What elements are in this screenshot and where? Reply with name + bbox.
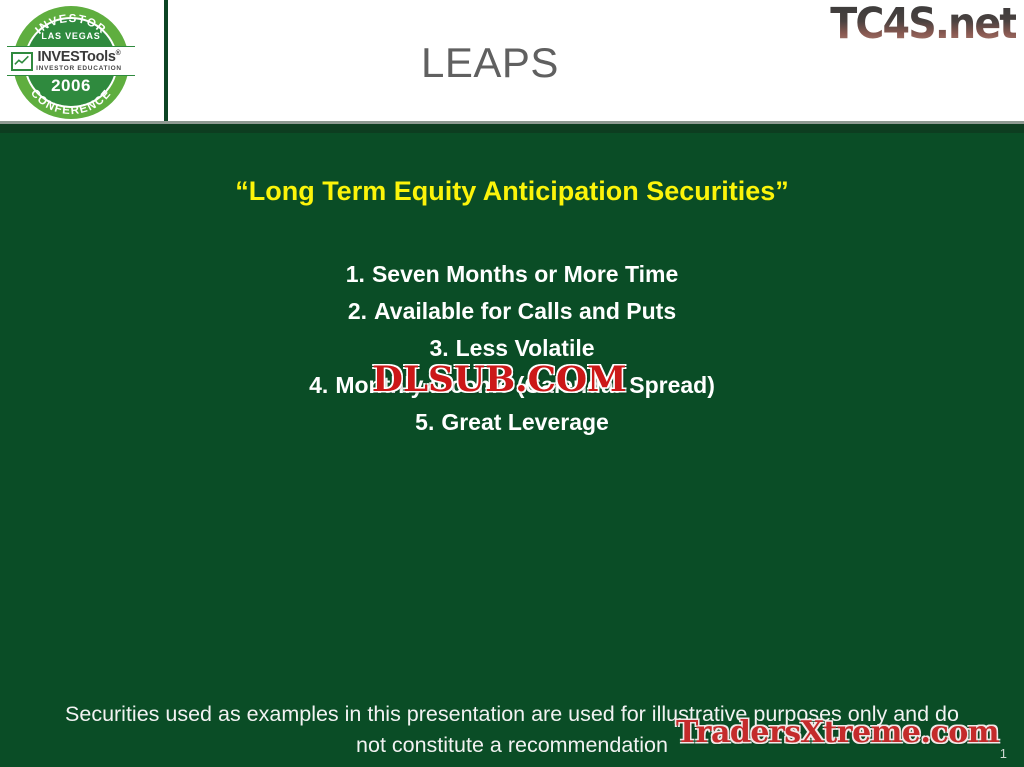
badge-tagline-label: INVESTOR EDUCATION [20, 66, 122, 73]
list-item: 2.Available for Calls and Puts [0, 293, 1024, 330]
list-item-label: Available for Calls and Puts [374, 298, 676, 324]
list-item-number: 4. [309, 372, 328, 398]
header-vertical-divider [164, 0, 168, 124]
badge-location-label: LAS VEGAS [13, 31, 129, 41]
list-item: 5.Great Leverage [0, 404, 1024, 441]
tc4s-brand-logo: TC4S.net [830, 3, 1016, 46]
presentation-slide: INVESTOR CONFERENCE LAS VEGAS INVESTools… [0, 0, 1024, 767]
leaps-feature-list: 1.Seven Months or More Time 2.Available … [0, 256, 1024, 441]
badge-year-label: 2006 [13, 76, 129, 96]
slide-header: INVESTOR CONFERENCE LAS VEGAS INVESTools… [0, 0, 1024, 122]
header-green-bar [0, 124, 1024, 133]
badge-brand-text: INVESTools [38, 49, 116, 65]
badge-brand-band: INVESTools® INVESTOR EDUCATION [7, 46, 135, 76]
investools-conference-badge: INVESTOR CONFERENCE LAS VEGAS INVESTools… [13, 6, 129, 119]
list-item-label: Seven Months or More Time [372, 261, 678, 287]
list-item-number: 5. [415, 409, 434, 435]
list-item-number: 3. [429, 335, 448, 361]
list-item-number: 1. [346, 261, 365, 287]
page-title: LEAPS [170, 42, 810, 84]
badge-registered-mark: ® [116, 50, 121, 57]
chart-line-icon [13, 54, 31, 69]
page-number: 1 [1000, 746, 1007, 761]
badge-brand-label: INVESTools® [22, 50, 121, 65]
list-item-number: 2. [348, 298, 367, 324]
tradersxtreme-watermark: TradersXtreme.com [676, 718, 999, 748]
list-item-label: Great Leverage [441, 409, 608, 435]
dlsub-watermark: DLSUB.COM [372, 362, 627, 397]
slide-body: “Long Term Equity Anticipation Securitie… [0, 133, 1024, 767]
chart-icon [11, 52, 33, 71]
list-item: 1.Seven Months or More Time [0, 256, 1024, 293]
list-item-label: Less Volatile [456, 335, 595, 361]
slide-headline: “Long Term Equity Anticipation Securitie… [0, 176, 1024, 207]
